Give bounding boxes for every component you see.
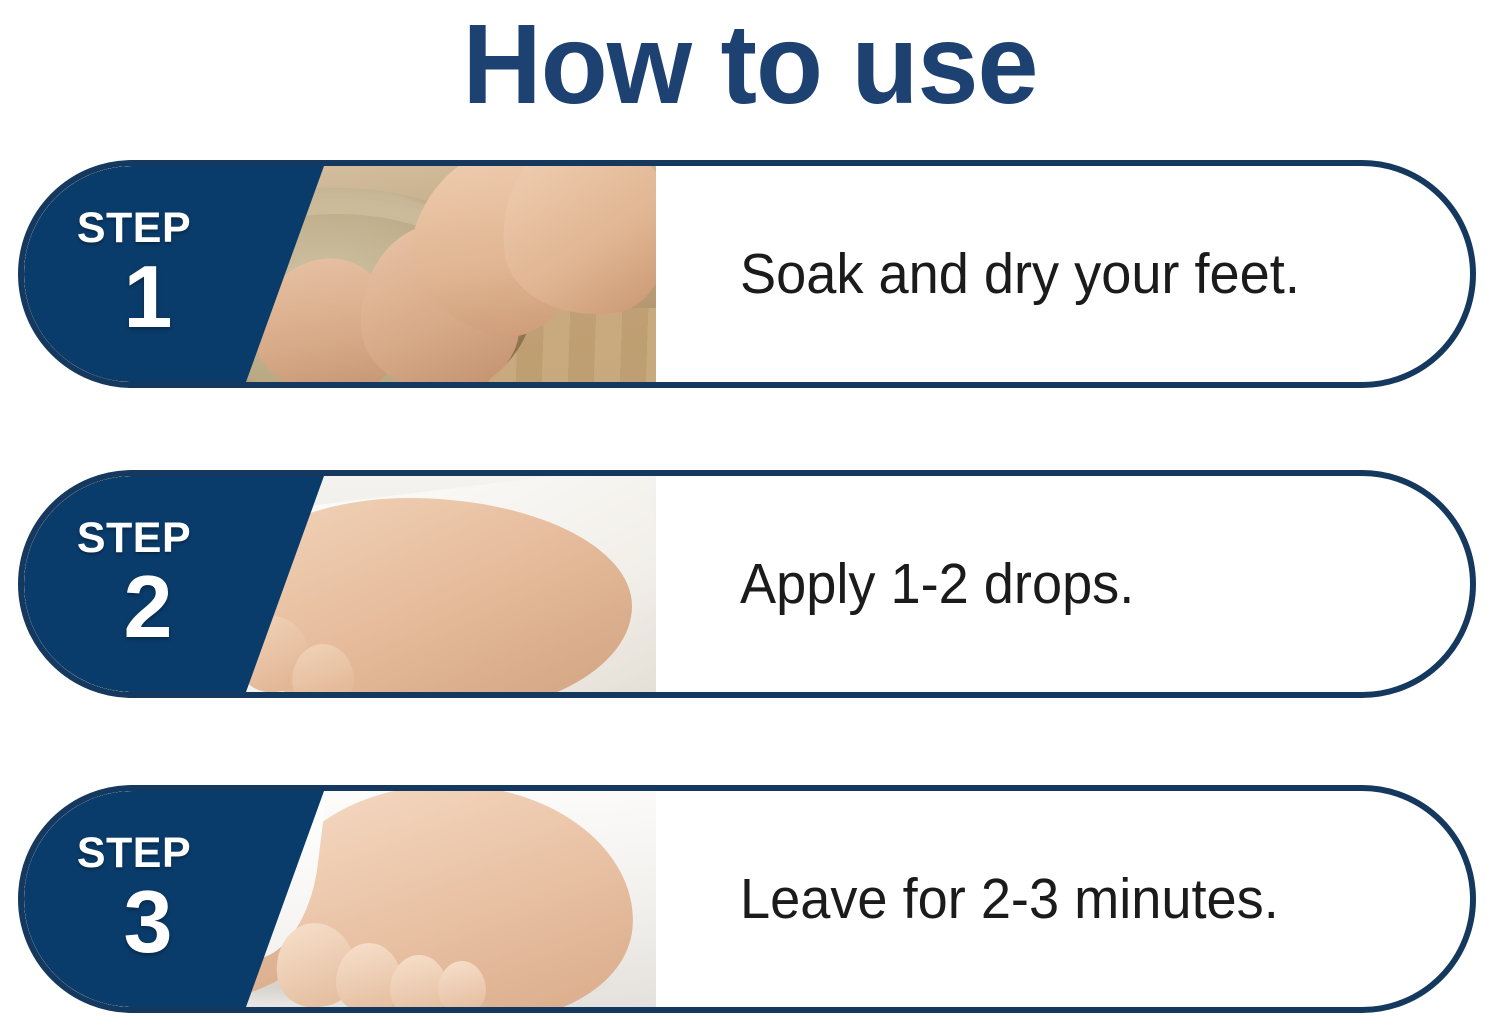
page-title: How to use	[23, 2, 1478, 126]
step-card-2-inner: STEP 2 Apply 1-2 drops.	[24, 476, 1470, 692]
step-2-instruction: Apply 1-2 drops.	[740, 476, 1396, 692]
step-1-instruction: Soak and dry your feet.	[740, 166, 1396, 382]
step-card-3-inner: STEP 3 Leave for 2-3 minutes.	[24, 791, 1470, 1007]
step-card-3: STEP 3 Leave for 2-3 minutes.	[18, 785, 1476, 1013]
step-card-2: STEP 2 Apply 1-2 drops.	[18, 470, 1476, 698]
step-card-1: STEP 1 Soak and dry your feet.	[18, 160, 1476, 388]
step-card-1-inner: STEP 1 Soak and dry your feet.	[24, 166, 1470, 382]
step-3-instruction: Leave for 2-3 minutes.	[740, 791, 1396, 1007]
